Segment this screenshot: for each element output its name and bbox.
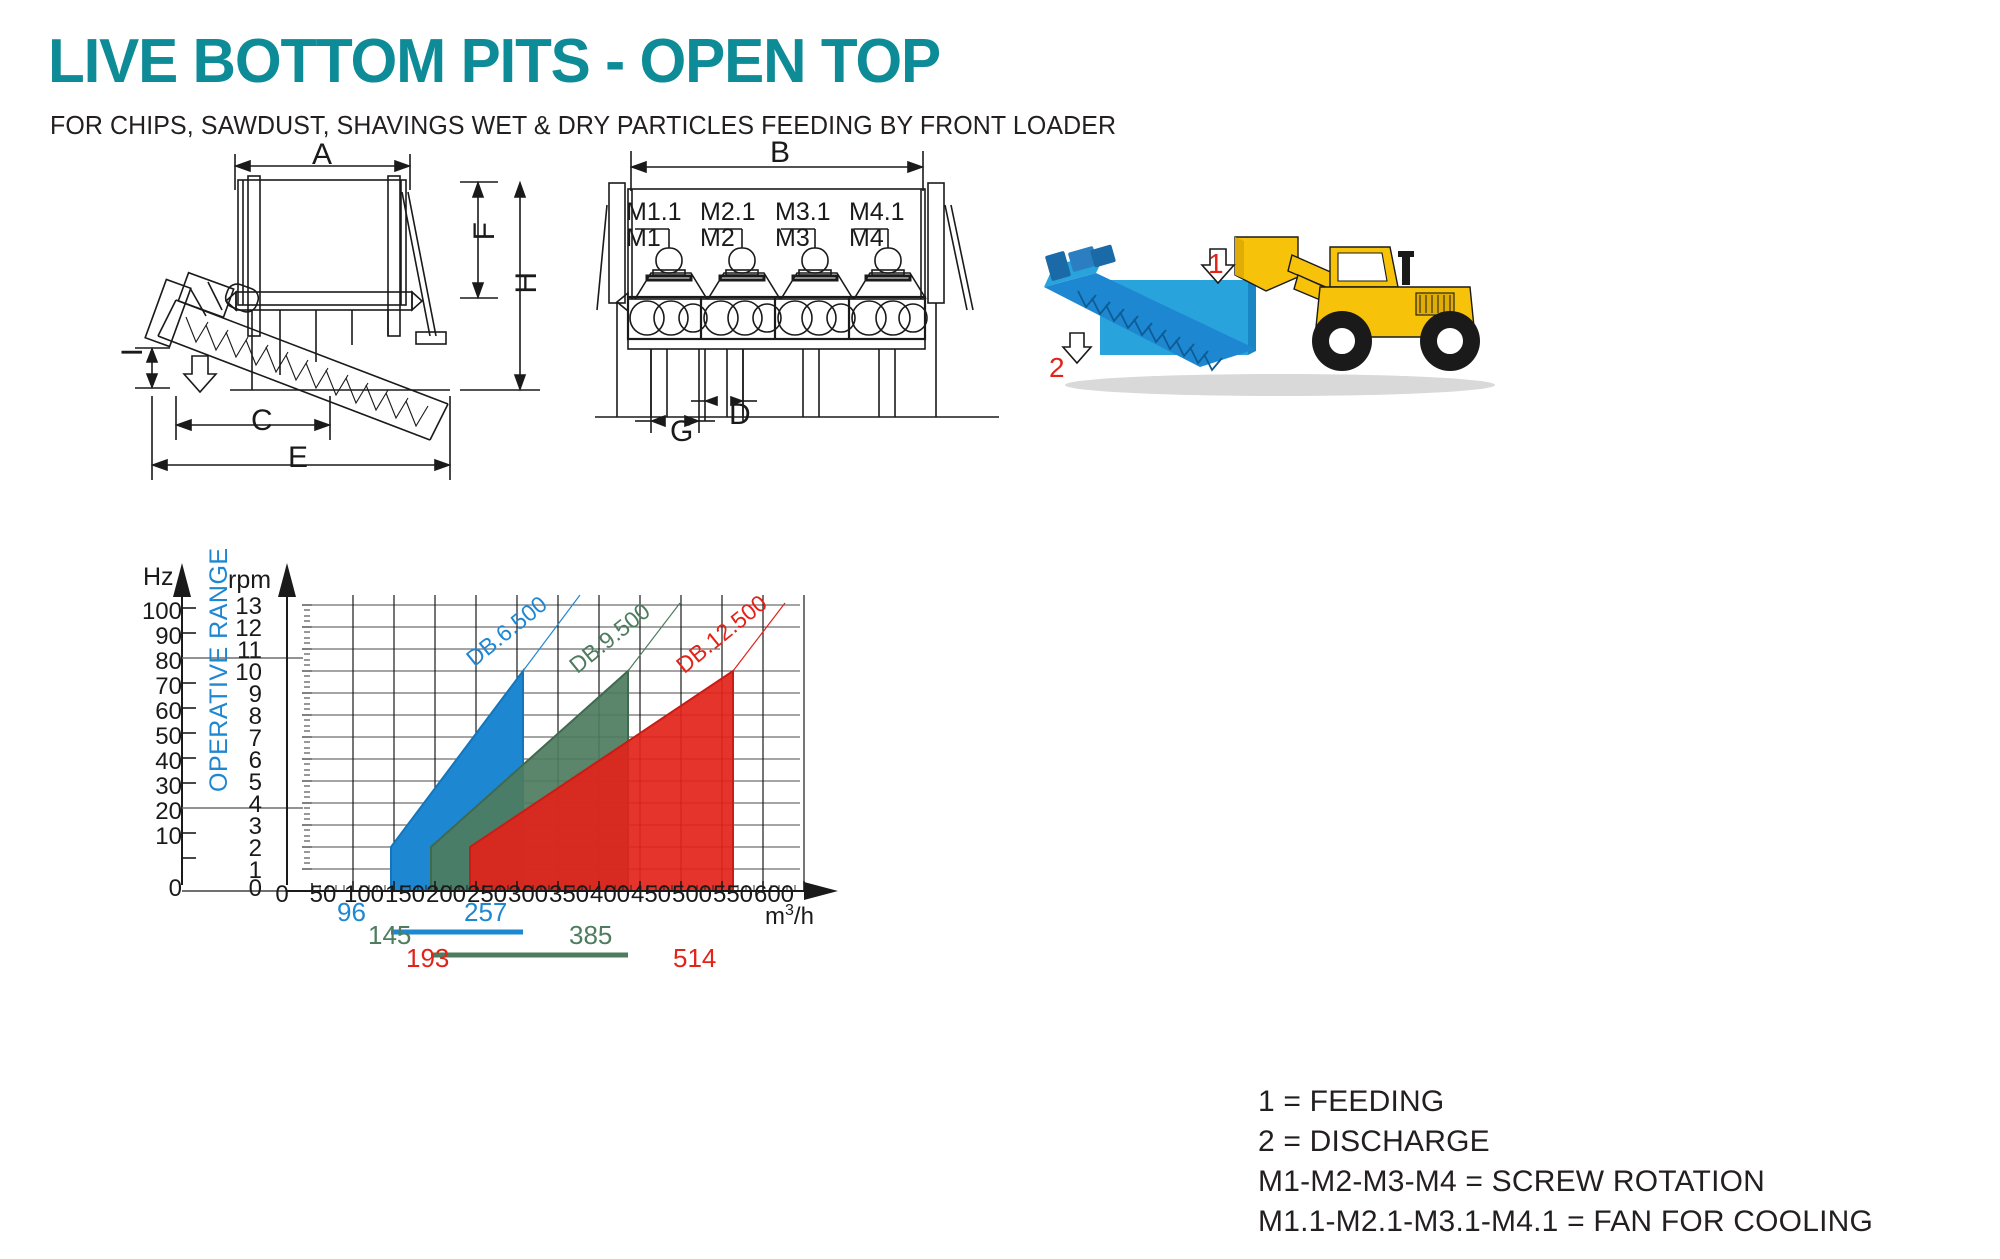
- dimension-label-G: G: [670, 415, 693, 449]
- range-max-db9500: 385: [569, 920, 612, 951]
- motor-label-m3-fan: M3.1: [775, 199, 831, 225]
- front-view-drawing: [595, 145, 1015, 445]
- motor-label-m4-fan: M4.1: [849, 199, 905, 225]
- dimension-label-B: B: [770, 136, 790, 170]
- hz-tick-20: 20: [130, 798, 182, 826]
- loader-illustration: [1030, 225, 1500, 410]
- page-title: LIVE BOTTOM PITS - OPEN TOP: [48, 26, 940, 97]
- hz-tick-0: 0: [130, 875, 182, 903]
- motor-label-m3: M3.1 M3: [775, 199, 831, 252]
- range-max-db6500: 257: [464, 897, 507, 928]
- range-min-db9500: 145: [368, 920, 411, 951]
- dimension-label-C: C: [251, 404, 273, 438]
- hz-tick-50: 50: [130, 723, 182, 751]
- hz-tick-60: 60: [130, 698, 182, 726]
- hz-tick-40: 40: [130, 748, 182, 776]
- page-subtitle: FOR CHIPS, SAWDUST, SHAVINGS WET & DRY P…: [50, 110, 1116, 141]
- hz-tick-30: 30: [130, 773, 182, 801]
- loader-callout-2: 2: [1049, 352, 1065, 384]
- datasheet-page: LIVE BOTTOM PITS - OPEN TOP FOR CHIPS, S…: [0, 0, 2000, 1259]
- legend-block: 1 = FEEDING 2 = DISCHARGE M1-M2-M3-M4 = …: [1258, 1082, 1873, 1242]
- dimension-label-H: H: [510, 272, 544, 294]
- motor-label-m1: M1.1 M1: [626, 199, 682, 252]
- motor-label-m3-screw: M3: [775, 225, 831, 251]
- motor-label-m2-screw: M2: [700, 225, 756, 251]
- hz-tick-80: 80: [130, 648, 182, 676]
- hz-tick-100: 100: [130, 598, 182, 626]
- hz-axis-title: Hz: [143, 563, 174, 592]
- legend-line-1: 1 = FEEDING: [1258, 1082, 1873, 1122]
- motor-label-m1-fan: M1.1: [626, 199, 682, 225]
- range-min-db12500: 193: [406, 943, 449, 974]
- hz-tick-10: 10: [130, 823, 182, 851]
- legend-line-4: M1.1-M2.1-M3.1-M4.1 = FAN FOR COOLING: [1258, 1202, 1873, 1242]
- dimension-label-E: E: [288, 441, 308, 475]
- loader-callout-1: 1: [1208, 248, 1224, 280]
- dimension-label-A: A: [312, 138, 332, 172]
- dimension-label-F: F: [468, 222, 502, 240]
- dimension-label-I: I: [116, 348, 150, 356]
- motor-label-m2-fan: M2.1: [700, 199, 756, 225]
- side-view-drawing: [130, 140, 570, 490]
- motor-label-m4-screw: M4: [849, 225, 905, 251]
- hz-tick-90: 90: [130, 623, 182, 651]
- x-axis-unit-label: m3/h: [765, 902, 814, 931]
- dimension-label-D: D: [729, 398, 751, 432]
- range-min-db6500: 96: [337, 897, 366, 928]
- motor-label-m1-screw: M1: [626, 225, 682, 251]
- range-max-db12500: 514: [673, 943, 716, 974]
- motor-label-m4: M4.1 M4: [849, 199, 905, 252]
- rpm-axis-title: rpm: [228, 566, 271, 595]
- motor-label-m2: M2.1 M2: [700, 199, 756, 252]
- hz-tick-70: 70: [130, 673, 182, 701]
- legend-line-3: M1-M2-M3-M4 = SCREW ROTATION: [1258, 1162, 1873, 1202]
- legend-line-2: 2 = DISCHARGE: [1258, 1122, 1873, 1162]
